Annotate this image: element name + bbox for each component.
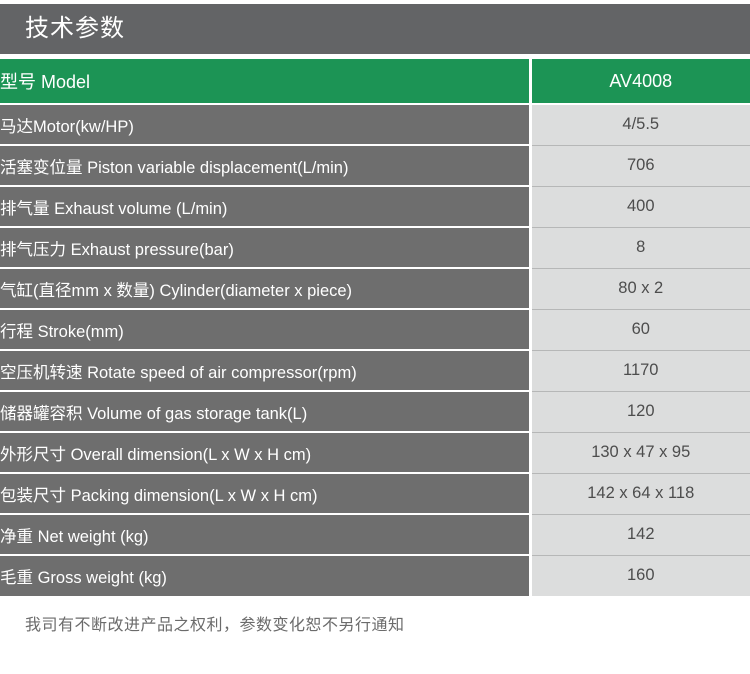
row-value-gas-storage-tank-volume: 120 <box>530 391 750 432</box>
row-label-overall-dimension: 外形尺寸 Overall dimension(L x W x H cm) <box>0 432 530 473</box>
page-title: 技术参数 <box>0 17 125 41</box>
row-value-overall-dimension: 130 x 47 x 95 <box>530 432 750 473</box>
row-label-piston-variable-displacement: 活塞变位量 Piston variable displacement(L/min… <box>0 145 530 186</box>
table-row: 行程 Stroke(mm) 60 <box>0 309 750 350</box>
section-title-band: 技术参数 <box>0 4 750 54</box>
row-value-gross-weight: 160 <box>530 555 750 596</box>
row-label-rotate-speed: 空压机转速 Rotate speed of air compressor(rpm… <box>0 350 530 391</box>
row-label-gross-weight: 毛重 Gross weight (kg) <box>0 555 530 596</box>
table-body: 型号 Model AV4008 马达Motor(kw/HP) 4/5.5 活塞变… <box>0 59 750 596</box>
row-value-piston-variable-displacement: 706 <box>530 145 750 186</box>
row-label-cylinder: 气缸(直径mm x 数量) Cylinder(diameter x piece) <box>0 268 530 309</box>
table-row: 包装尺寸 Packing dimension(L x W x H cm) 142… <box>0 473 750 514</box>
row-label-net-weight: 净重 Net weight (kg) <box>0 514 530 555</box>
column-header-model-value: AV4008 <box>530 59 750 104</box>
row-label-exhaust-pressure: 排气压力 Exhaust pressure(bar) <box>0 227 530 268</box>
table-row: 空压机转速 Rotate speed of air compressor(rpm… <box>0 350 750 391</box>
disclaimer-note: 我司有不断改进产品之权利，参数变化恕不另行通知 <box>25 611 405 635</box>
row-value-exhaust-volume: 400 <box>530 186 750 227</box>
table-row: 储器罐容积 Volume of gas storage tank(L) 120 <box>0 391 750 432</box>
table-row: 气缸(直径mm x 数量) Cylinder(diameter x piece)… <box>0 268 750 309</box>
row-value-motor: 4/5.5 <box>530 104 750 145</box>
row-value-cylinder: 80 x 2 <box>530 268 750 309</box>
table-header-row: 型号 Model AV4008 <box>0 59 750 104</box>
row-value-exhaust-pressure: 8 <box>530 227 750 268</box>
column-header-model-label: 型号 Model <box>0 59 530 104</box>
table-row: 排气压力 Exhaust pressure(bar) 8 <box>0 227 750 268</box>
table-row: 活塞变位量 Piston variable displacement(L/min… <box>0 145 750 186</box>
row-label-motor: 马达Motor(kw/HP) <box>0 104 530 145</box>
table-row: 排气量 Exhaust volume (L/min) 400 <box>0 186 750 227</box>
table-row: 马达Motor(kw/HP) 4/5.5 <box>0 104 750 145</box>
row-label-stroke: 行程 Stroke(mm) <box>0 309 530 350</box>
row-label-exhaust-volume: 排气量 Exhaust volume (L/min) <box>0 186 530 227</box>
spec-sheet-page: 技术参数 型号 Model AV4008 马达Motor(kw/HP) 4/5.… <box>0 0 750 674</box>
table-row: 毛重 Gross weight (kg) 160 <box>0 555 750 596</box>
row-value-packing-dimension: 142 x 64 x 118 <box>530 473 750 514</box>
row-label-packing-dimension: 包装尺寸 Packing dimension(L x W x H cm) <box>0 473 530 514</box>
technical-parameters-table: 型号 Model AV4008 马达Motor(kw/HP) 4/5.5 活塞变… <box>0 59 750 596</box>
table-row: 外形尺寸 Overall dimension(L x W x H cm) 130… <box>0 432 750 473</box>
table-row: 净重 Net weight (kg) 142 <box>0 514 750 555</box>
row-value-rotate-speed: 1170 <box>530 350 750 391</box>
row-value-net-weight: 142 <box>530 514 750 555</box>
row-label-gas-storage-tank-volume: 储器罐容积 Volume of gas storage tank(L) <box>0 391 530 432</box>
row-value-stroke: 60 <box>530 309 750 350</box>
